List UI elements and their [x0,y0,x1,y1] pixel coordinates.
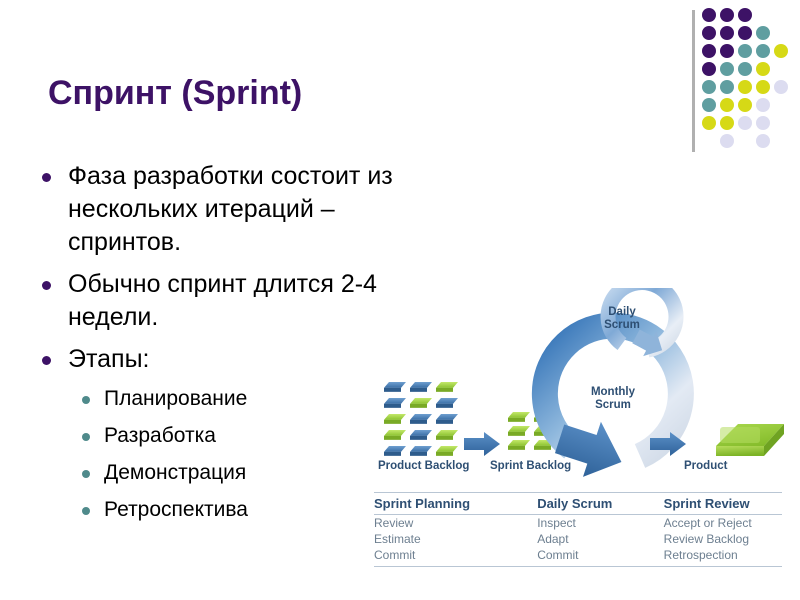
bullet-marker-icon [42,356,51,365]
sub-bullet-marker-icon [82,470,90,478]
accent-vertical-line [692,10,695,152]
table-cell: Adapt [537,531,663,547]
decorative-dot [756,80,770,94]
table-header-cell: Sprint Planning [374,493,537,515]
table-cell: Review Backlog [664,531,782,547]
slide: Спринт (Sprint) Фаза разработки состоит … [0,0,800,600]
decorative-dot [702,26,716,40]
table-cell: Commit [374,547,537,567]
decorative-dot [738,116,752,130]
decorative-dot [738,62,752,76]
decorative-dot [720,98,734,112]
decorative-dot [720,44,734,58]
monthly-scrum-line2: Scrum [595,399,631,411]
bullet-marker-icon [42,281,51,290]
arrow-to-sprint-backlog [464,432,500,456]
daily-scrum-label: Daily Scrum [594,306,650,332]
table-cell: Estimate [374,531,537,547]
bullet-text: Разработка [104,424,216,447]
decorative-dot [702,116,716,130]
decorative-dot [756,62,770,76]
decorative-dot [720,8,734,22]
decorative-dot [756,26,770,40]
table-header-row: Sprint Planning Daily Scrum Sprint Revie… [374,493,782,515]
product-backlog-stacks [384,382,458,456]
caption-product-backlog: Product Backlog [378,460,469,472]
decorative-dot [702,8,716,22]
caption-product: Product [684,460,727,472]
daily-scrum-line2: Scrum [604,319,640,331]
table-row: Estimate Adapt Review Backlog [374,531,782,547]
decorative-dot [756,134,770,148]
table-header-cell: Sprint Review [664,493,782,515]
table-cell: Accept or Reject [664,515,782,532]
decorative-dot [738,44,752,58]
bullet-text: Этапы: [68,345,150,373]
table-cell: Retrospection [664,547,782,567]
sub-bullet-marker-icon [82,507,90,515]
bullet-text: Ретроспектива [104,498,248,521]
scrum-events-table: Sprint Planning Daily Scrum Sprint Revie… [374,492,782,567]
bullet-text: Фаза разработки состоит из нескольких ит… [68,162,393,256]
bullet-level1: Фаза разработки состоит из нескольких ит… [34,160,434,259]
daily-scrum-line1: Daily [608,306,636,318]
decorative-dot [702,80,716,94]
decorative-dot [720,80,734,94]
decorative-dot [702,44,716,58]
slide-title: Спринт (Sprint) [48,74,668,113]
decorative-dot [774,44,788,58]
table-cell: Commit [537,547,663,567]
bullet-text: Демонстрация [104,461,246,484]
monthly-scrum-line1: Monthly [591,386,635,398]
product-slab [716,424,784,456]
decorative-dot [720,116,734,130]
decorative-dot [702,62,716,76]
decorative-dot [738,8,752,22]
sub-bullet-marker-icon [82,396,90,404]
table-cell: Review [374,515,537,532]
decorative-dot [720,62,734,76]
decorative-dot [720,26,734,40]
bullet-marker-icon [42,173,51,182]
decorative-dot [774,80,788,94]
table-header-cell: Daily Scrum [537,493,663,515]
bullet-text: Планирование [104,387,247,410]
sub-bullet-marker-icon [82,433,90,441]
table-row: Commit Commit Retrospection [374,547,782,567]
decorative-dot [720,134,734,148]
caption-sprint-backlog: Sprint Backlog [490,460,571,472]
table-cell: Inspect [537,515,663,532]
monthly-scrum-label: Monthly Scrum [570,386,656,412]
decorative-dot [738,98,752,112]
decorative-dot [756,44,770,58]
bullet-text: Обычно спринт длится 2-4 недели. [68,270,377,331]
decorative-dot [702,98,716,112]
decorative-dot [756,98,770,112]
table-row: Review Inspect Accept or Reject [374,515,782,532]
decorative-dot [756,116,770,130]
decorative-dot [738,26,752,40]
decorative-dot-grid [702,8,798,148]
decorative-dot [738,80,752,94]
